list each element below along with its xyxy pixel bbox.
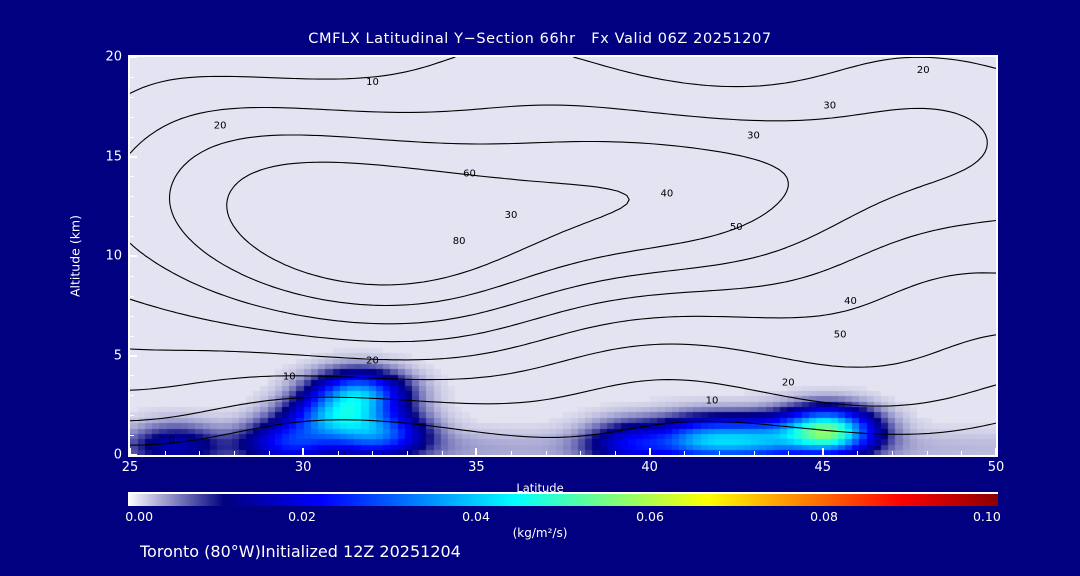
y-tick-label-20: 20 [62,50,122,65]
x-tick-minor [754,451,755,455]
x-tick-mark [302,448,304,455]
contour-label-80: 80 [453,236,466,247]
contour-label-10: 10 [366,77,379,88]
contour-line-60 [130,105,987,324]
chart-footer: Toronto (80°W)Initialized 12Z 20251204 [140,542,461,561]
y-tick-minor [130,236,134,237]
contour-label-40: 40 [661,188,674,199]
x-tick-label-40: 40 [641,460,658,475]
x-tick-mark [129,448,131,455]
y-tick-minor [130,375,134,376]
contour-label-50: 50 [730,222,743,233]
y-tick-minor [130,117,134,118]
x-tick-label-35: 35 [468,460,485,475]
contour-line-10 [130,420,996,445]
x-tick-minor [684,451,685,455]
contour-line-50 [130,57,455,93]
x-tick-minor [857,451,858,455]
x-tick-minor [927,451,928,455]
contour-label-0: 0 [168,435,174,446]
x-tick-minor [442,451,443,455]
contour-line-40 [130,273,996,360]
contour-label-40: 40 [844,296,857,307]
colorbar-tick-0.02: 0.02 [288,509,316,524]
y-tick-minor [130,77,134,78]
colorbar-tick-0.10: 0.10 [973,509,1001,524]
x-tick-minor [788,451,789,455]
contour-label-30: 30 [823,101,836,112]
y-tick-mark [130,56,137,58]
y-tick-minor [130,415,134,416]
contour-line-70 [170,135,789,306]
y-tick-minor [130,316,134,317]
y-tick-label-15: 15 [62,149,122,164]
x-tick-mark [475,448,477,455]
colorbar [128,492,998,506]
y-tick-mark [130,454,137,456]
y-tick-minor [130,276,134,277]
y-tick-mark [130,355,137,357]
y-tick-label-5: 5 [62,348,122,363]
contour-line-80 [227,162,630,285]
y-tick-mark [130,156,137,158]
x-tick-mark [822,448,824,455]
y-tick-label-0: 0 [62,448,122,463]
y-tick-minor [130,296,134,297]
y-tick-minor [130,137,134,138]
x-tick-minor [546,451,547,455]
x-tick-minor [615,451,616,455]
x-tick-minor [199,451,200,455]
y-tick-minor [130,196,134,197]
x-tick-minor [269,451,270,455]
contour-label-60: 60 [463,168,476,179]
y-tick-minor [130,435,134,436]
contour-label-30: 30 [747,131,760,142]
contour-label-20: 20 [214,121,227,132]
x-tick-label-25: 25 [122,460,139,475]
contour-line-20 [130,380,996,421]
x-tick-minor [407,451,408,455]
wind-speed-contours: 102030405060802030405020102010030 [130,57,996,455]
colorbar-tick-0.08: 0.08 [810,509,838,524]
contour-label-50: 50 [834,330,847,341]
x-tick-minor [338,451,339,455]
y-tick-minor [130,216,134,217]
y-tick-mark [130,255,137,257]
contour-label-30: 30 [505,210,518,221]
x-tick-minor [165,451,166,455]
figure-root: CMFLX Latitudinal Y−Section 66hr Fx Vali… [0,0,1080,576]
contour-label-20: 20 [917,65,930,76]
colorbar-units-label: (kg/m²/s) [0,526,1080,540]
y-tick-minor [130,97,134,98]
y-tick-minor [130,176,134,177]
x-tick-minor [892,451,893,455]
y-axis-label: Altitude (km) [68,215,83,297]
colorbar-gradient [128,494,998,506]
contour-label-10: 10 [283,371,296,382]
chart-title: CMFLX Latitudinal Y−Section 66hr Fx Vali… [0,31,1080,47]
y-tick-minor [130,395,134,396]
contour-label-20: 20 [782,377,795,388]
colorbar-tick-0.04: 0.04 [462,509,490,524]
contour-line-50 [573,57,996,87]
x-tick-mark [649,448,651,455]
x-tick-label-45: 45 [815,460,832,475]
x-tick-minor [961,451,962,455]
colorbar-tick-0.06: 0.06 [636,509,664,524]
plot-area: 102030405060802030405020102010030 [128,55,998,457]
contour-line-30 [130,335,996,390]
x-tick-label-50: 50 [988,460,1005,475]
contour-label-20: 20 [366,356,379,367]
x-tick-minor [719,451,720,455]
x-tick-mark [995,448,997,455]
y-tick-minor [130,336,134,337]
colorbar-tick-0.00: 0.00 [125,509,153,524]
x-tick-minor [372,451,373,455]
contour-label-10: 10 [706,395,719,406]
x-tick-minor [234,451,235,455]
x-tick-minor [511,451,512,455]
contour-line-50 [130,221,996,342]
x-tick-minor [580,451,581,455]
x-tick-label-30: 30 [295,460,312,475]
